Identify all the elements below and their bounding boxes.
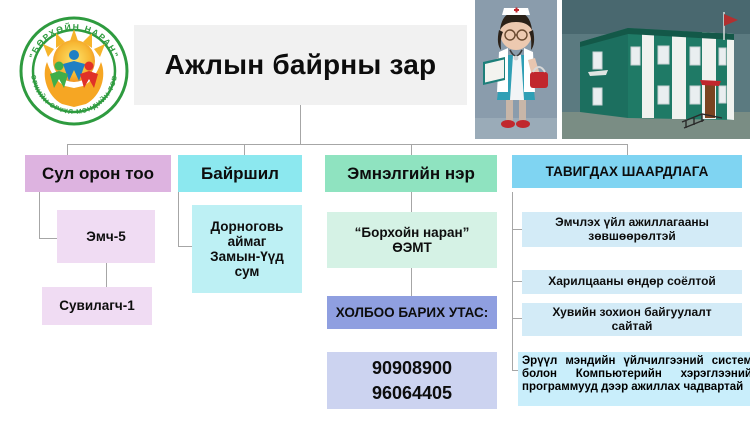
requirement-item-4[interactable]: Эрүүл мэндийн үйлчилгээний систем болон …: [518, 352, 750, 406]
requirement-item-4-text: Эрүүл мэндийн үйлчилгээний систем болон …: [522, 355, 750, 393]
job-vacancy-poster: "БӨРХӨЙН НАРАН" ӨРХИЙН ЭРҮҮЛ МЭНДИЙН ТӨВ…: [0, 0, 750, 422]
clinic-building-photo: [562, 0, 750, 139]
requirement-item-3-line-1: Хувийн зохион байгуулалт: [552, 306, 711, 319]
column-header-vacancies-label: Сул орон тоо: [42, 164, 154, 183]
location-line-3: Замын-Үүд: [210, 249, 284, 264]
contact-phone-header[interactable]: ХОЛБОО БАРИХ УТАС:: [327, 296, 497, 329]
connector-title-down: [300, 105, 301, 144]
phone-number-1: 90908900: [372, 356, 452, 380]
connector-col2-branch-1: [178, 246, 192, 247]
clinic-name-line-1: “Борхойн наран”: [355, 225, 470, 240]
poster-title: Ажлын байрны зар: [165, 49, 437, 81]
connector-col3-to-contact: [411, 268, 412, 296]
connector-col2-spine: [178, 192, 179, 246]
location-line-1: Дорноговь: [211, 219, 284, 234]
column-header-clinic-name-label: Эмнэлгийн нэр: [347, 164, 475, 183]
connector-col4-branch-2: [512, 281, 522, 282]
vacancy-item-nurse[interactable]: Сувилагч-1: [42, 287, 152, 325]
contact-phone-numbers[interactable]: 90908900 96064405: [327, 352, 497, 409]
connector-col1-spine: [39, 192, 40, 238]
vacancy-item-doctor[interactable]: Эмч-5: [57, 210, 155, 263]
connector-col4-branch-1: [512, 229, 522, 230]
column-header-vacancies[interactable]: Сул орон тоо: [25, 155, 171, 192]
requirement-item-1[interactable]: Эмчлэх үйл ажиллагааны зөвшөөрөлтэй: [522, 212, 742, 247]
clinic-logo: "БӨРХӨЙН НАРАН" ӨРХИЙН ЭРҮҮЛ МЭНДИЙН ТӨВ: [17, 14, 131, 128]
connector-col4-branch-3: [512, 318, 522, 319]
requirement-item-2[interactable]: Харилцааны өндөр соёлтой: [522, 270, 742, 294]
clinic-name-value[interactable]: “Борхойн наран” ӨЭМТ: [327, 212, 497, 268]
requirement-item-1-line-1: Эмчлэх үйл ажиллагааны: [555, 216, 709, 229]
location-value[interactable]: Дорноговь аймаг Замын-Үүд сум: [192, 205, 302, 293]
requirement-item-3[interactable]: Хувийн зохион байгуулалт сайтай: [522, 303, 742, 336]
column-header-requirements[interactable]: ТАВИГДАХ ШААРДЛАГА: [512, 155, 742, 188]
nurse-illustration: [475, 0, 557, 139]
connector-col1-branch-1: [39, 238, 57, 239]
clinic-name-line-2: ӨЭМТ: [392, 240, 432, 255]
poster-title-box: Ажлын байрны зар: [134, 25, 467, 105]
connector-col3-to-name: [411, 192, 412, 212]
location-line-2: аймаг: [228, 234, 267, 249]
requirement-item-1-line-2: зөвшөөрөлтэй: [588, 230, 676, 243]
vacancy-item-nurse-label: Сувилагч-1: [59, 298, 134, 313]
connector-main-horizontal: [67, 144, 627, 145]
contact-phone-header-label: ХОЛБОО БАРИХ УТАС:: [336, 305, 489, 320]
requirement-item-3-line-2: сайтай: [612, 320, 653, 333]
column-header-location-label: Байршил: [201, 164, 279, 183]
vacancy-item-doctor-label: Эмч-5: [86, 229, 125, 244]
column-header-location[interactable]: Байршил: [178, 155, 302, 192]
column-header-requirements-label: ТАВИГДАХ ШААРДЛАГА: [546, 164, 709, 179]
column-header-clinic-name[interactable]: Эмнэлгийн нэр: [325, 155, 497, 192]
requirement-item-2-line-1: Харилцааны өндөр соёлтой: [548, 275, 716, 288]
connector-col1-item1-to-item2: [106, 263, 107, 287]
phone-number-2: 96064405: [372, 381, 452, 405]
location-line-4: сум: [235, 264, 260, 279]
